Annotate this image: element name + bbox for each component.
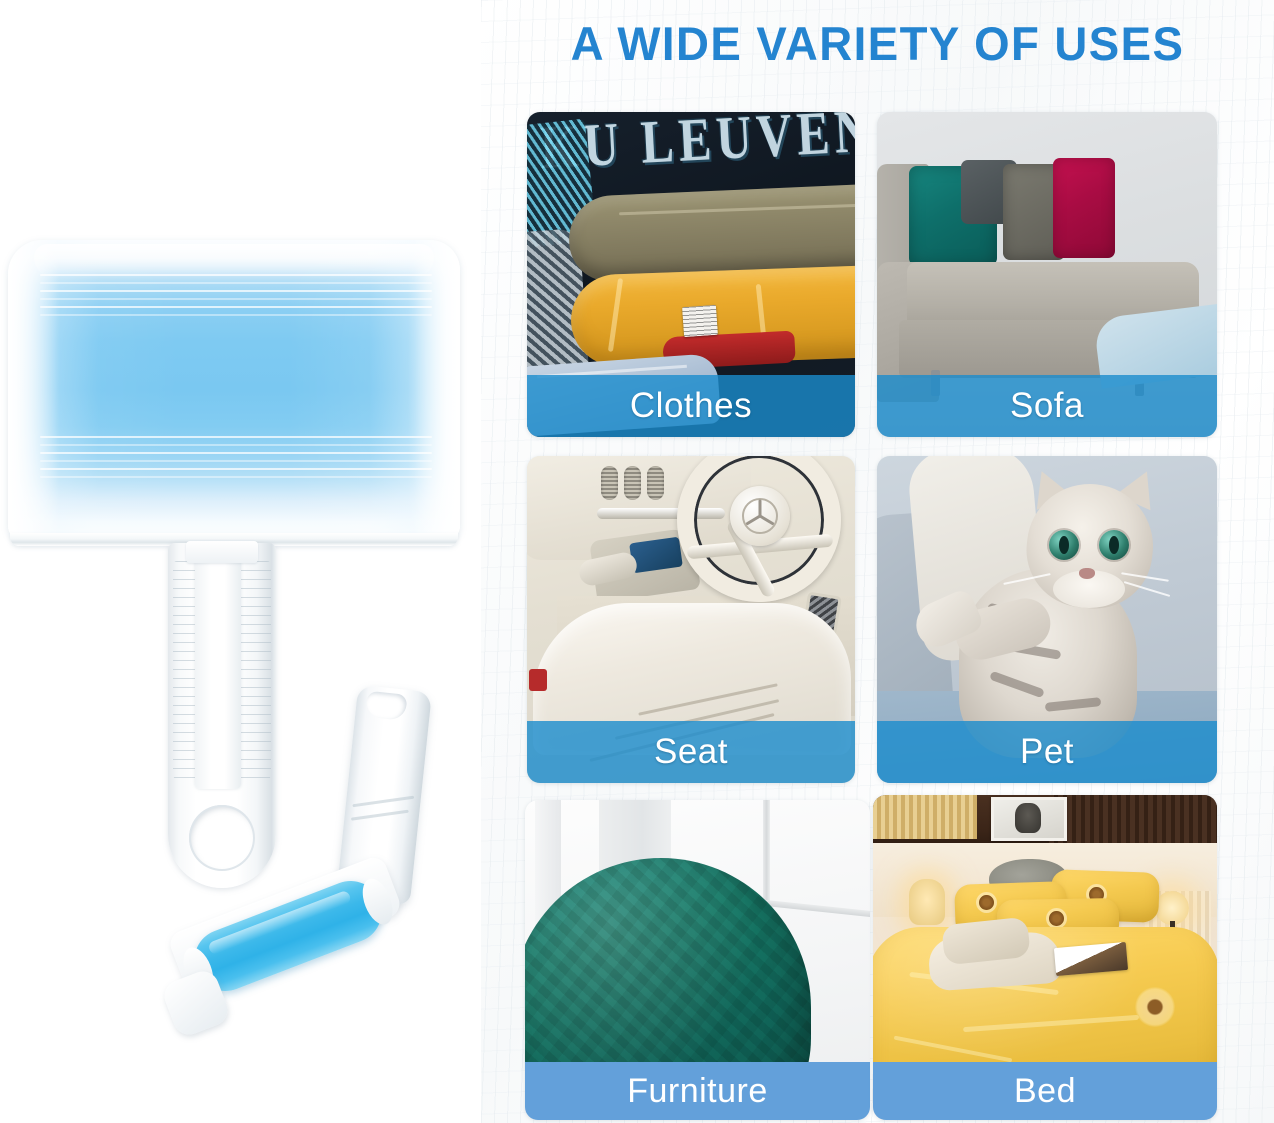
use-card-bed[interactable]: Bed — [873, 795, 1217, 1120]
mini-handle-groove — [351, 810, 409, 821]
cover-rib — [40, 468, 432, 470]
use-card-seat[interactable]: Seat — [527, 456, 855, 783]
use-card-clothes[interactable]: KU LEUVEN Clothes — [527, 112, 855, 437]
use-card-pet[interactable]: Pet — [877, 456, 1217, 783]
card-label-seat: Seat — [527, 721, 855, 783]
page-title: A WIDE VARIETY OF USES — [493, 16, 1262, 71]
cover-rib — [40, 436, 432, 438]
cover-rib — [40, 282, 432, 284]
gold-slat-panel — [873, 795, 977, 839]
uses-panel: A WIDE VARIETY OF USES KU LEUVEN Clothes — [481, 0, 1274, 1123]
card-label-text: Furniture — [627, 1072, 768, 1111]
cover-rib — [40, 314, 432, 316]
air-vent-icon — [647, 466, 664, 500]
handle-hang-hole — [189, 805, 255, 871]
kitten-pupil — [1109, 536, 1119, 554]
seatbelt-buckle — [529, 669, 547, 691]
pillow-embroidery-motif — [979, 895, 994, 910]
air-vent-icon — [601, 466, 618, 500]
card-label-sofa: Sofa — [877, 375, 1217, 437]
pillow-embroidery-motif — [1049, 911, 1064, 926]
mini-handle-notch — [365, 691, 407, 721]
card-label-text: Bed — [1014, 1072, 1076, 1111]
kitten-nose — [1079, 568, 1095, 579]
cover-rib — [40, 290, 432, 292]
air-vent-icon — [624, 466, 641, 500]
duvet-fold — [894, 1036, 1013, 1063]
product-photo-panel — [0, 0, 481, 1123]
cover-rib — [40, 476, 432, 478]
duvet-embroidery-motif — [1135, 987, 1175, 1027]
roller-cover — [8, 240, 460, 540]
card-label-text: Clothes — [630, 386, 752, 426]
card-label-clothes: Clothes — [527, 375, 855, 437]
card-label-pet: Pet — [877, 721, 1217, 783]
pillow-crimson — [1053, 158, 1115, 258]
table-lamp-left — [909, 879, 945, 925]
handle-top-clip — [186, 541, 258, 563]
cover-rib — [40, 452, 432, 454]
duvet-fold — [963, 1015, 1139, 1032]
card-label-text: Seat — [654, 732, 728, 772]
card-label-bed: Bed — [873, 1062, 1217, 1120]
card-label-text: Pet — [1020, 732, 1074, 772]
cover-gloss — [34, 244, 434, 278]
product-infographic: A WIDE VARIETY OF USES KU LEUVEN Clothes — [0, 0, 1274, 1123]
wood-slat-panel — [1049, 795, 1217, 845]
cover-rib — [40, 274, 432, 276]
kitten-pupil — [1059, 536, 1069, 554]
card-label-furniture: Furniture — [525, 1062, 870, 1120]
card-label-text: Sofa — [1010, 386, 1084, 426]
cover-rib — [40, 306, 432, 308]
mini-handle-groove — [352, 796, 414, 808]
roller-handle — [168, 543, 276, 888]
cover-rib — [40, 298, 432, 300]
use-card-furniture[interactable]: Furniture — [525, 800, 870, 1120]
artwork-figure — [1015, 803, 1041, 833]
kitten-stripe — [989, 671, 1045, 699]
handle-center-strip — [195, 549, 241, 789]
cover-left-edge — [8, 240, 60, 540]
table-lamp-right — [1155, 891, 1189, 925]
cover-rib — [40, 460, 432, 462]
kitten-stripe — [1045, 697, 1102, 712]
use-card-sofa[interactable]: Sofa — [877, 112, 1217, 437]
clothes-care-label — [682, 305, 718, 337]
cover-right-edge — [408, 240, 460, 540]
mercedes-star-icon — [741, 497, 779, 535]
cover-rib — [40, 444, 432, 446]
